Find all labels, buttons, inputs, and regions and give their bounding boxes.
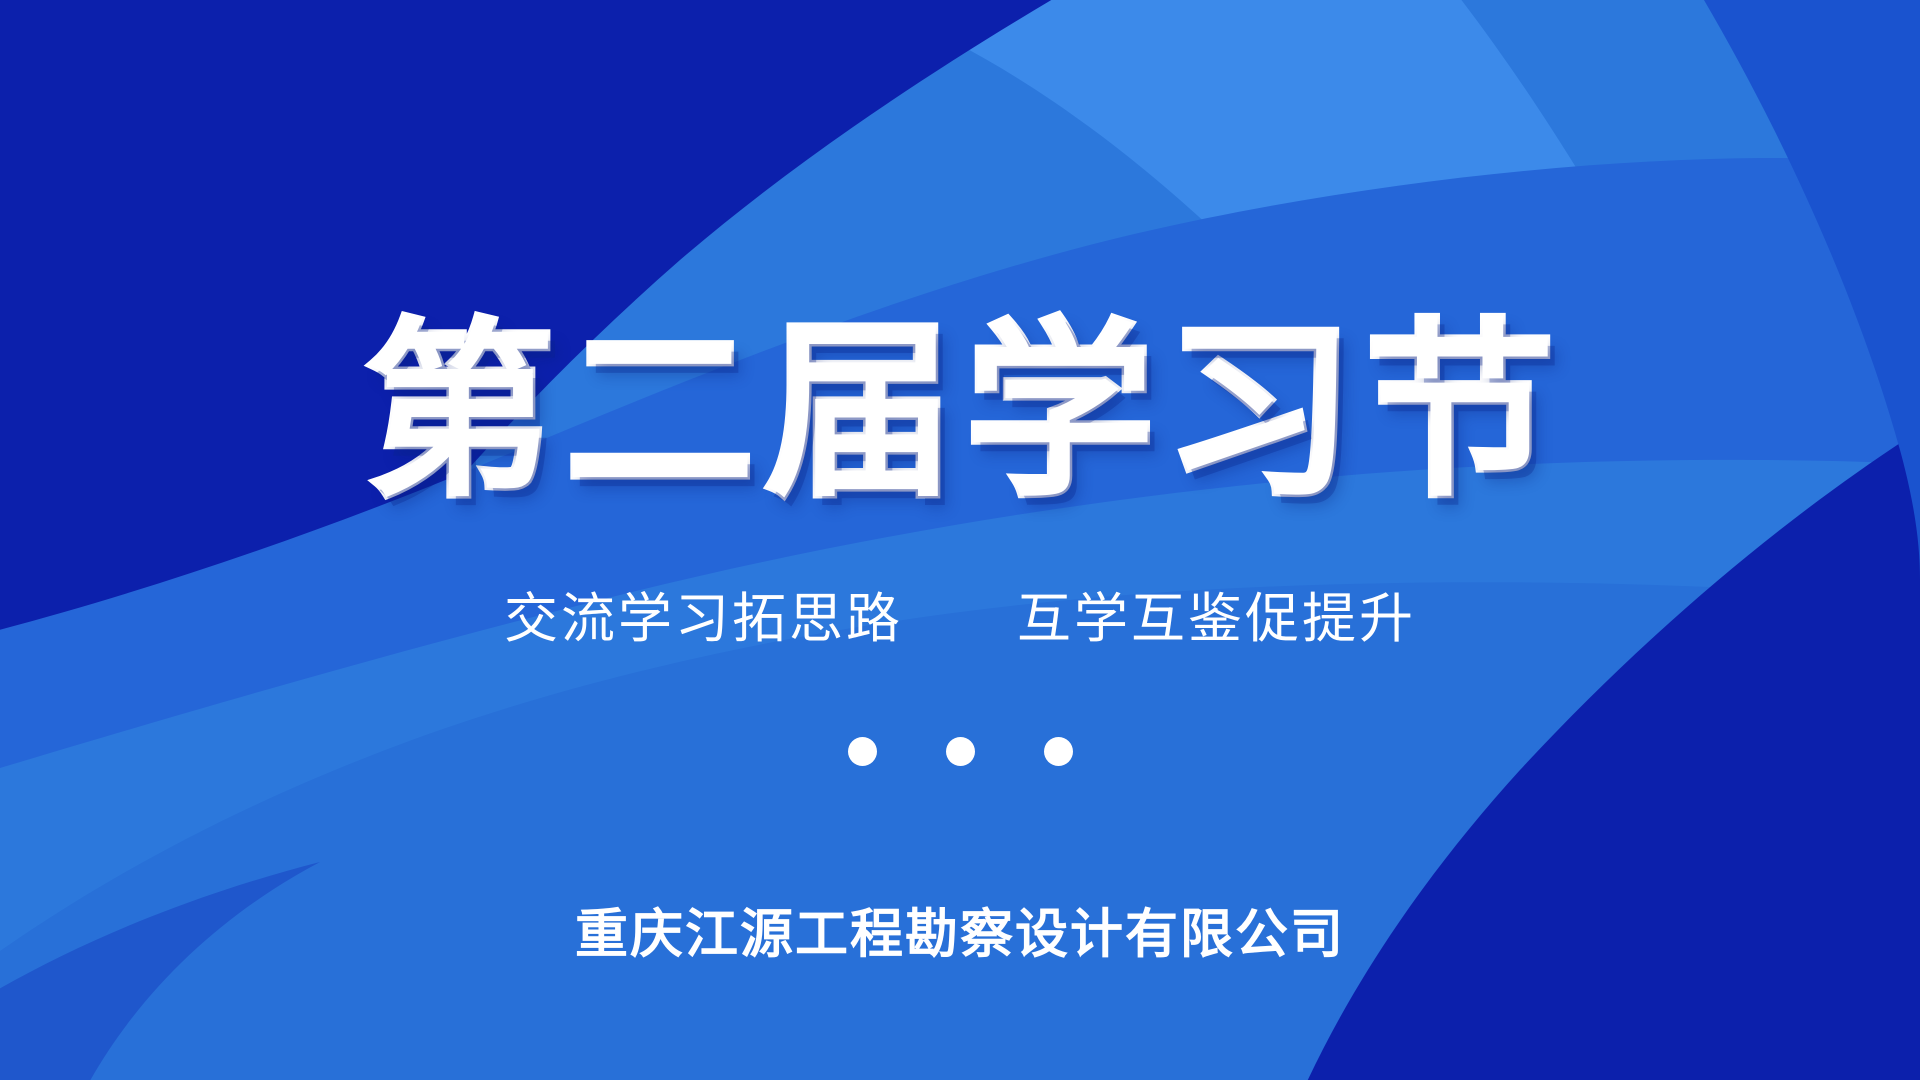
company-name: 重庆江源工程勘察设计有限公司 <box>0 908 1920 961</box>
poster-content: 第二届学习节 交流学习拓思路 互学互鉴促提升 重庆江源工程勘察设计有限公司 <box>0 0 1920 1080</box>
dot-icon <box>946 737 975 766</box>
page-title: 第二届学习节 <box>0 318 1920 508</box>
dot-separator <box>0 737 1920 766</box>
dot-icon <box>848 737 877 766</box>
poster-canvas: 第二届学习节 交流学习拓思路 互学互鉴促提升 重庆江源工程勘察设计有限公司 <box>0 0 1920 1080</box>
dot-icon <box>1044 737 1073 766</box>
poster-subtitle: 交流学习拓思路 互学互鉴促提升 <box>0 592 1920 646</box>
